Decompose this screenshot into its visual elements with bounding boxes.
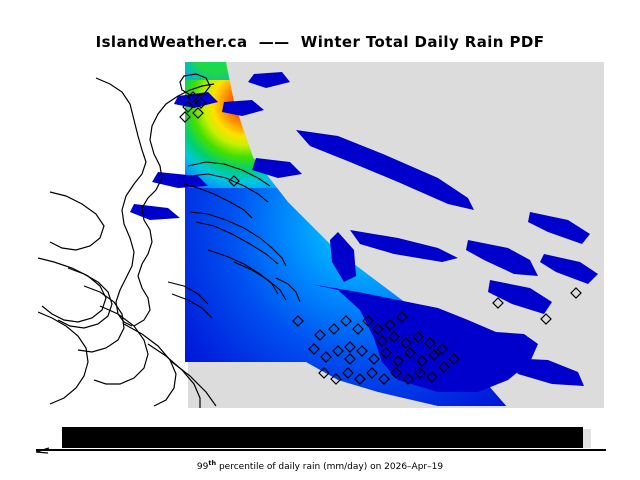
colorbar-axis-line — [36, 449, 606, 451]
colorbar-end-cap — [583, 429, 591, 448]
figure-caption: 99th percentile of daily rain (mm/day) o… — [0, 459, 640, 472]
caption-percentile-number: 99 — [197, 462, 208, 472]
coastline-overlay — [38, 62, 604, 408]
colorbar — [62, 427, 583, 448]
figure-canvas: IslandWeather.ca —— Winter Total Daily R… — [0, 0, 640, 480]
figure-title: IslandWeather.ca —— Winter Total Daily R… — [0, 33, 640, 51]
coastline-strokes-west — [38, 74, 216, 408]
caption-text: percentile of daily rain (mm/day) on 202… — [216, 462, 443, 472]
caption-percentile-suffix: th — [208, 459, 216, 467]
colorbar-arrow-icon — [36, 445, 50, 454]
map-plot-area[interactable] — [38, 62, 604, 408]
